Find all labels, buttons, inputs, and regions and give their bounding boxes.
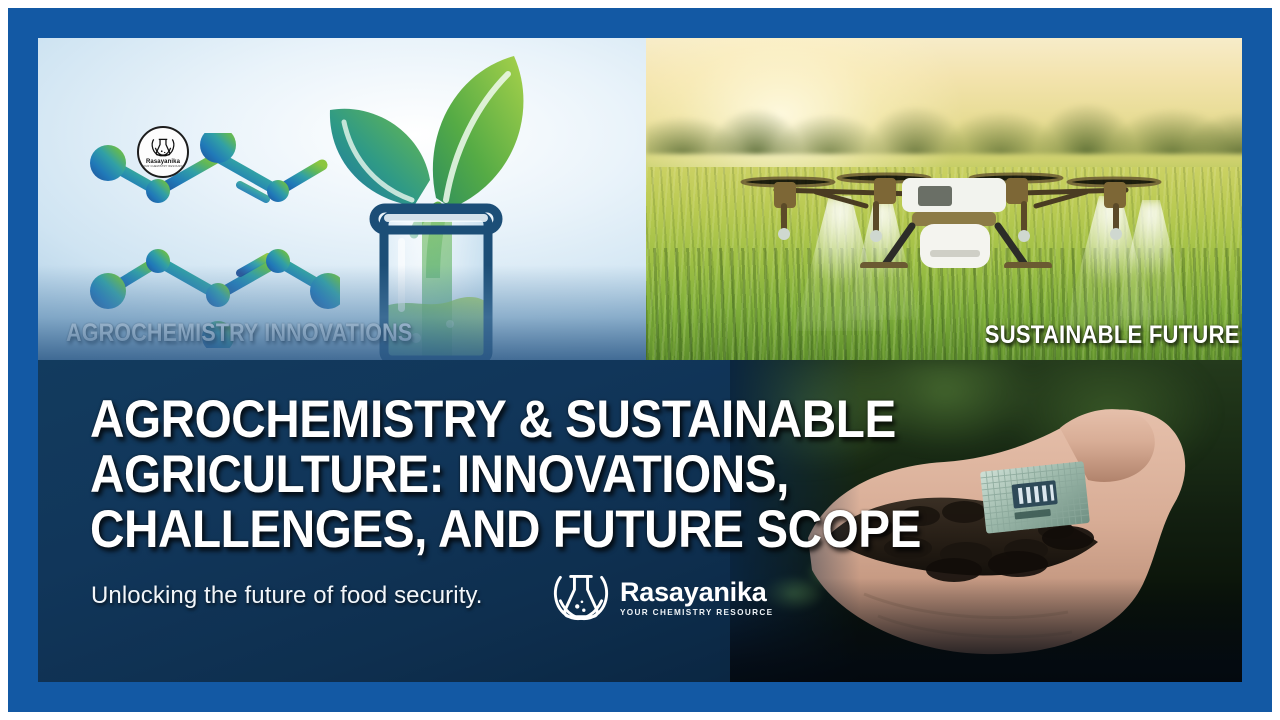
badge-name: Rasayanika bbox=[146, 159, 180, 165]
blue-frame-border: Rasayanika YOUR CHEMISTRY RESOURCE bbox=[8, 8, 1272, 712]
hero-panel-drone-field: SUSTAINABLE FUTURE bbox=[646, 38, 1242, 360]
molecule-hexagon-icon bbox=[90, 133, 340, 348]
rasayanika-circular-badge: Rasayanika YOUR CHEMISTRY RESOURCE bbox=[137, 126, 189, 178]
rasayanika-brand-lockup: Rasayanika YOUR CHEMISTRY RESOURCE bbox=[551, 570, 773, 626]
brand-text: Rasayanika YOUR CHEMISTRY RESOURCE bbox=[620, 579, 773, 617]
headline-line-3: CHALLENGES, AND FUTURE SCOPE bbox=[90, 502, 954, 557]
badge-tagline: YOUR CHEMISTRY RESOURCE bbox=[141, 166, 184, 169]
caption-sustainable-future: SUSTAINABLE FUTURE bbox=[985, 321, 1240, 350]
hero-panel-agrochemistry: Rasayanika YOUR CHEMISTRY RESOURCE bbox=[38, 38, 646, 360]
headline-band: AGROCHEMISTRY & SUSTAINABLE AGRICULTURE:… bbox=[38, 360, 1242, 682]
headline-line-1: AGROCHEMISTRY & SUSTAINABLE bbox=[90, 392, 954, 447]
rasayanika-flask-atom-logo-icon bbox=[551, 570, 611, 626]
headline-line-2: AGRICULTURE: INNOVATIONS, bbox=[90, 447, 954, 502]
brand-tagline: YOUR CHEMISTRY RESOURCE bbox=[620, 609, 773, 617]
banner-canvas: Rasayanika YOUR CHEMISTRY RESOURCE bbox=[38, 38, 1242, 682]
agricultural-spray-drone-icon bbox=[716, 148, 1186, 268]
bottom-edge-fade bbox=[730, 578, 1242, 682]
caption-agrochemistry-innovations: AGROCHEMISTRY INNOVATIONS bbox=[66, 319, 412, 348]
brand-name: Rasayanika bbox=[620, 579, 773, 606]
page-title: AGROCHEMISTRY & SUSTAINABLE AGRICULTURE:… bbox=[90, 392, 1050, 557]
treeline bbox=[646, 77, 1242, 154]
subtitle: Unlocking the future of food security. bbox=[91, 582, 483, 610]
banner-stage: Rasayanika YOUR CHEMISTRY RESOURCE bbox=[0, 0, 1280, 720]
test-tube-with-plant-icon bbox=[326, 48, 556, 360]
